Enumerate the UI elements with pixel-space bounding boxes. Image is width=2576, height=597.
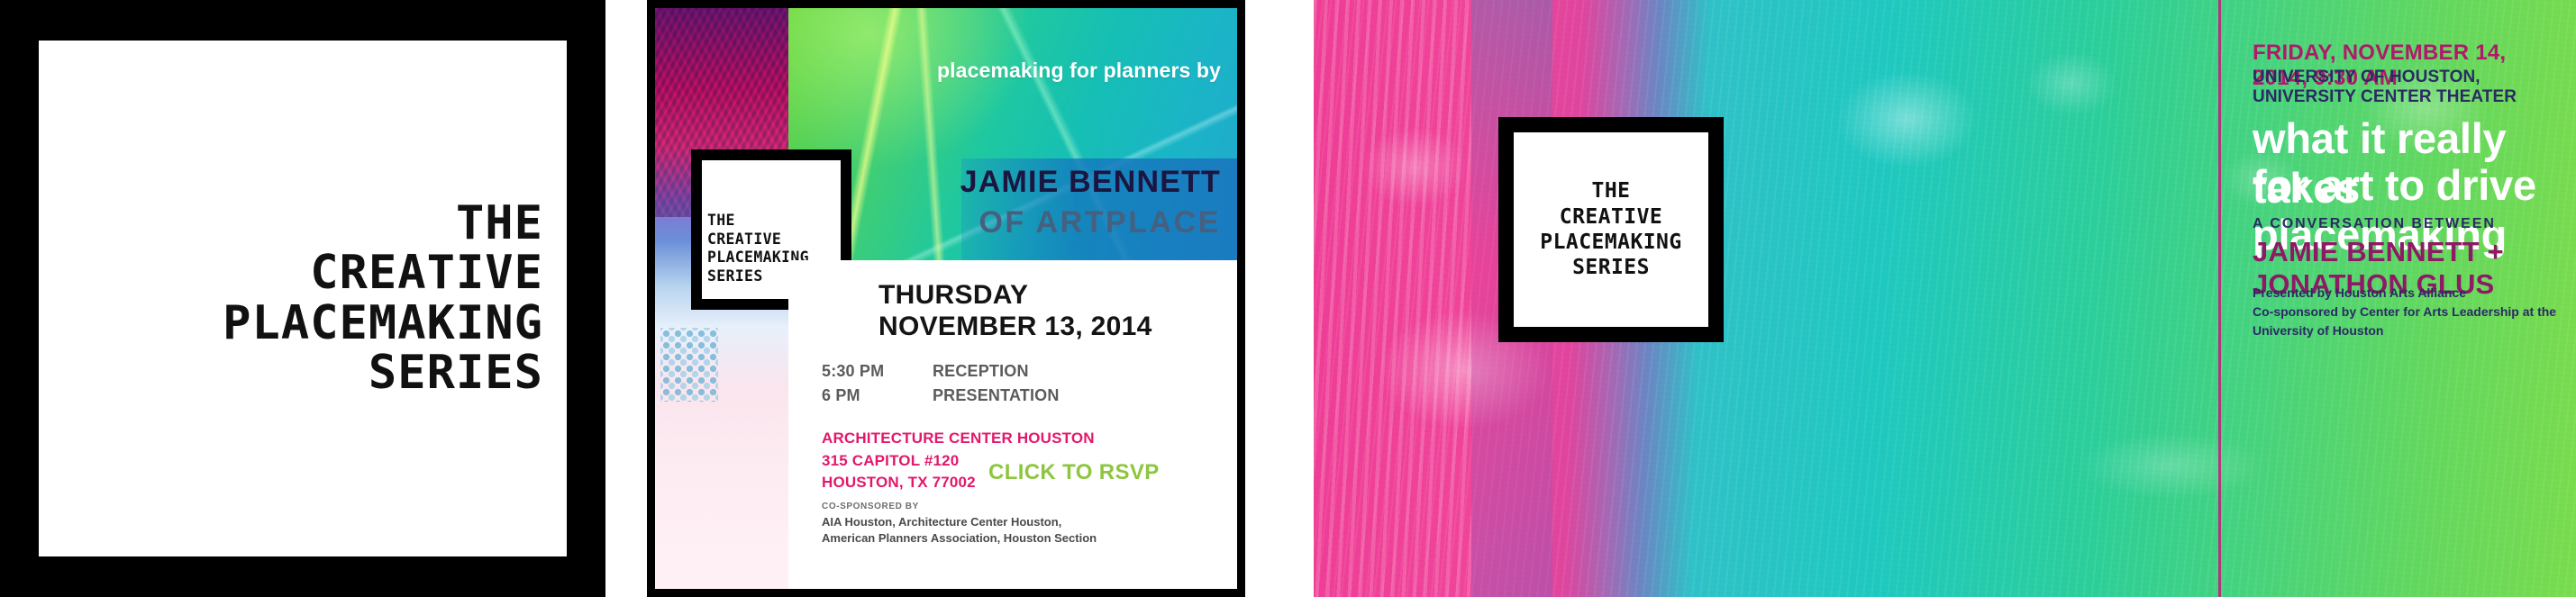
logo-white-field: THE CREATIVE PLACEMAKING SERIES: [39, 41, 567, 556]
rsvp-link[interactable]: CLICK TO RSVP: [988, 460, 1160, 485]
logo-badge-field: THE CREATIVE PLACEMAKING SERIES: [1514, 132, 1708, 327]
panel-event-november-13: placemaking for planners by JAMIE BENNET…: [647, 0, 1245, 597]
logo-line-creative: CREATIVE: [707, 231, 781, 249]
cosponsor-list: AIA Houston, Architecture Center Houston…: [822, 514, 1097, 547]
conversation-label: A CONVERSATION BETWEEN: [2253, 216, 2496, 232]
event-details: THURSDAY NOVEMBER 13, 2014 5:30 PM 6 PM …: [788, 260, 1237, 589]
panel-event-november-14: THE CREATIVE PLACEMAKING SERIES FRIDAY, …: [1314, 0, 2576, 597]
speaker-name: JAMIE BENNETT: [826, 167, 1221, 198]
vertical-divider-rule: [2218, 0, 2221, 597]
texture-band-left: [1314, 0, 1471, 597]
label-reception: RECEPTION: [933, 359, 1060, 384]
panel3-text-column: FRIDAY, NOVEMBER 14, 2014, 9:30 AM UNIVE…: [2253, 0, 2567, 597]
event-date-full: NOVEMBER 13, 2014: [878, 312, 1152, 343]
logo-line-the: THE: [456, 199, 543, 249]
event-day: THURSDAY: [878, 280, 1152, 312]
schedule-times: 5:30 PM 6 PM: [822, 359, 884, 408]
event-venue: UNIVERSITY OF HOUSTON, UNIVERSITY CENTER…: [2253, 68, 2567, 107]
poster-gallery: THE CREATIVE PLACEMAKING SERIES placemak…: [0, 0, 2576, 597]
panel2-content: placemaking for planners by JAMIE BENNET…: [655, 8, 1237, 589]
cosponsor-line-2: American Planners Association, Houston S…: [822, 530, 1097, 547]
logo-line-placemaking: PLACEMAKING: [223, 299, 543, 348]
label-presentation: PRESENTATION: [933, 384, 1060, 408]
presenter-credits: Presented by Houston Arts Alliance Co-sp…: [2253, 284, 2567, 340]
cosponsored-by: Co-sponsored by Center for Arts Leadersh…: [2253, 303, 2567, 340]
kicker-text: placemaking for planners by: [826, 59, 1221, 83]
logo-line-the: THE: [707, 212, 735, 231]
schedule-labels: RECEPTION PRESENTATION: [933, 359, 1060, 408]
time-presentation: 6 PM: [822, 384, 884, 408]
time-reception: 5:30 PM: [822, 359, 884, 384]
logo-line-series: SERIES: [707, 267, 763, 286]
logo-line-series: SERIES: [1572, 255, 1650, 280]
event-date: THURSDAY NOVEMBER 13, 2014: [878, 280, 1152, 343]
logo-line-creative: CREATIVE: [310, 249, 543, 298]
logo-badge: THE CREATIVE PLACEMAKING SERIES: [1498, 117, 1724, 342]
cosponsor-heading: CO-SPONSORED BY: [822, 502, 919, 511]
cosponsor-line-1: AIA Houston, Architecture Center Houston…: [822, 514, 1097, 530]
venue-name: ARCHITECTURE CENTER HOUSTON: [822, 428, 1095, 450]
logo-line-series: SERIES: [369, 348, 543, 398]
logo-line-the: THE: [1592, 178, 1631, 204]
presented-by: Presented by Houston Arts Alliance: [2253, 284, 2567, 303]
panel-logo-mark: THE CREATIVE PLACEMAKING SERIES: [0, 0, 605, 597]
speaker-org: OF ARTPLACE: [826, 207, 1221, 239]
logo-line-placemaking: PLACEMAKING: [1540, 230, 1681, 255]
logo-line-creative: CREATIVE: [1560, 204, 1662, 230]
